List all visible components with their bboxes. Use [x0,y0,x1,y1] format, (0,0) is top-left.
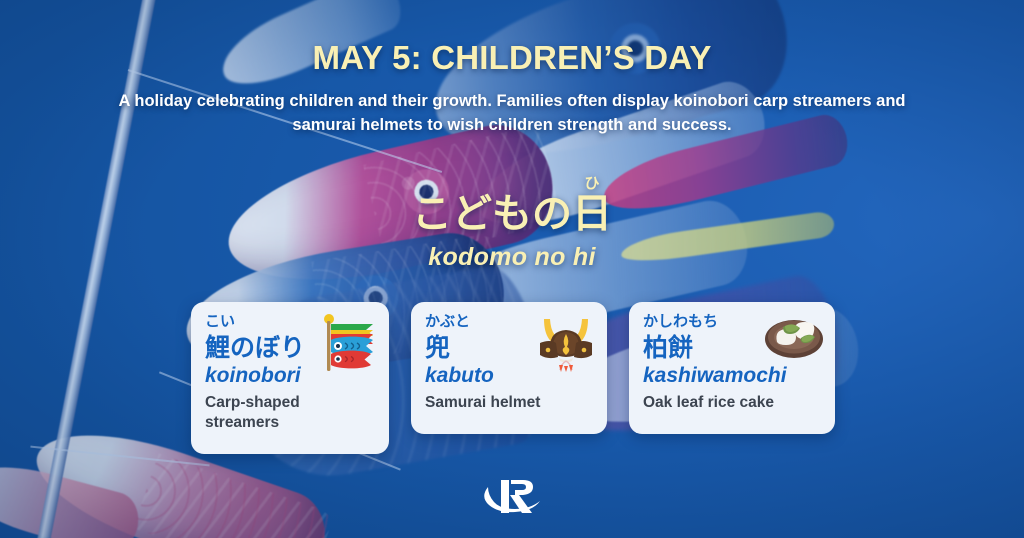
header: MAY 5: CHILDREN’S DAY A holiday celebrat… [0,40,1024,138]
card-description: Samurai helmet [425,393,593,412]
childrens-day-infographic: MAY 5: CHILDREN’S DAY A holiday celebrat… [0,0,1024,538]
japanese-term-ruby: ひ日 [572,176,612,234]
page-subtitle: A holiday celebrating children and their… [117,90,907,138]
japanese-term-kana: こどもの [412,192,572,236]
page-title: MAY 5: CHILDREN’S DAY [0,40,1024,76]
card-description: Oak leaf rice cake [643,393,821,412]
furigana-text: ひ [584,176,599,191]
vocabulary-card-kabuto: かぶと 兜 kabuto Samurai helmet [411,302,607,434]
samurai-helmet-icon [533,310,599,376]
koinobori-flag-icon [315,310,381,376]
japanese-term: こどものひ日 [412,176,612,234]
japanese-term-romaji: kodomo no hi [0,243,1024,272]
k-swoosh-logo [479,474,545,518]
vocabulary-cards: こい 鯉のぼり koinobori Carp-shaped streamers [191,302,835,454]
card-description: Carp-shaped streamers [205,393,375,432]
vocabulary-card-koinobori: こい 鯉のぼり koinobori Carp-shaped streamers [191,302,389,454]
japanese-term-block: こどものひ日 kodomo no hi [0,176,1024,272]
card-romaji: kashiwamochi [643,363,821,388]
vocabulary-card-kashiwamochi: かしわもち 柏餅 kashiwamochi Oak leaf rice cake [629,302,835,434]
mochi-plate-icon [763,314,825,360]
ruby-base-kanji: 日 [572,194,612,234]
